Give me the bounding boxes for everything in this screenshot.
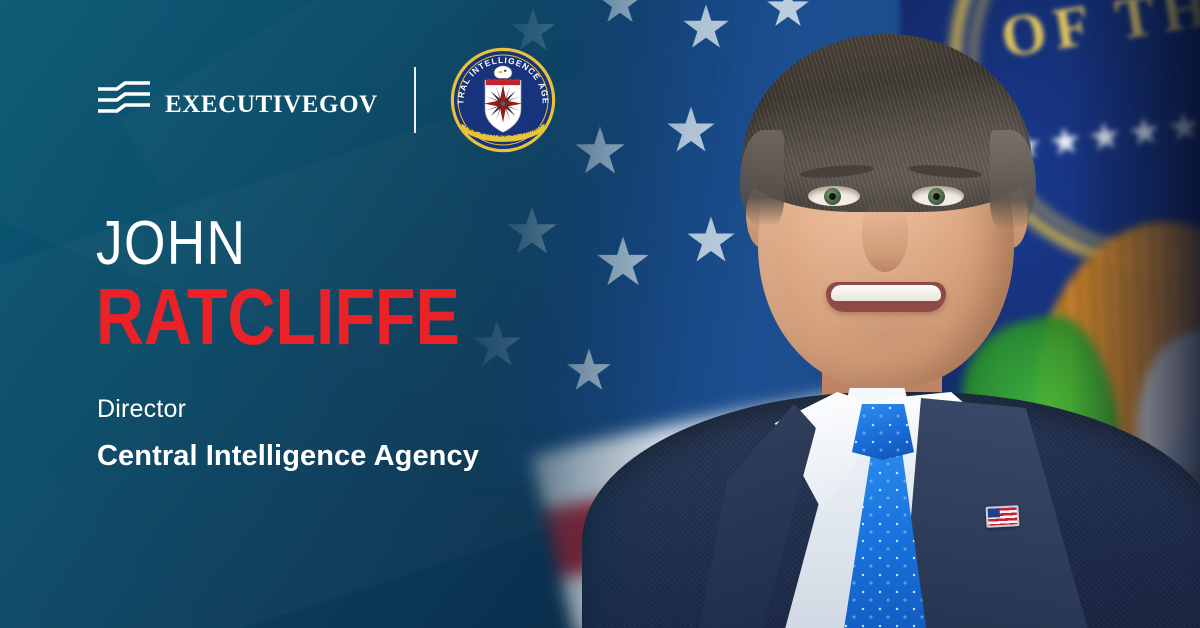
chin (816, 314, 956, 376)
eye-right (912, 186, 964, 206)
leadership-announcement-card: OF THE (0, 0, 1200, 628)
hair-temple-left (740, 130, 784, 226)
executivegov-wave-mark-icon (97, 80, 151, 120)
brand-divider (414, 67, 416, 133)
mouth (826, 282, 946, 312)
necktie-knot (852, 404, 914, 460)
brand-name: ExecutiveGov (165, 83, 378, 118)
brand-bar: ExecutiveGov CENTRAL INTELLIGENCE AGENCY (97, 60, 557, 140)
nose (862, 200, 908, 272)
portrait-photo: OF THE (470, 0, 1200, 628)
person-role: Director (97, 395, 186, 424)
cia-seal-icon: CENTRAL INTELLIGENCE AGENCY (449, 46, 557, 154)
person-figure (470, 0, 1200, 628)
american-flag-lapel-pin (985, 505, 1019, 528)
person-name-block: JOHN RATCLIFFE (96, 214, 534, 355)
person-organization: Central Intelligence Agency (97, 440, 479, 473)
hair (742, 34, 1032, 212)
first-name: JOHN (96, 214, 473, 275)
eye-left (808, 186, 860, 206)
last-name: RATCLIFFE (96, 279, 460, 355)
